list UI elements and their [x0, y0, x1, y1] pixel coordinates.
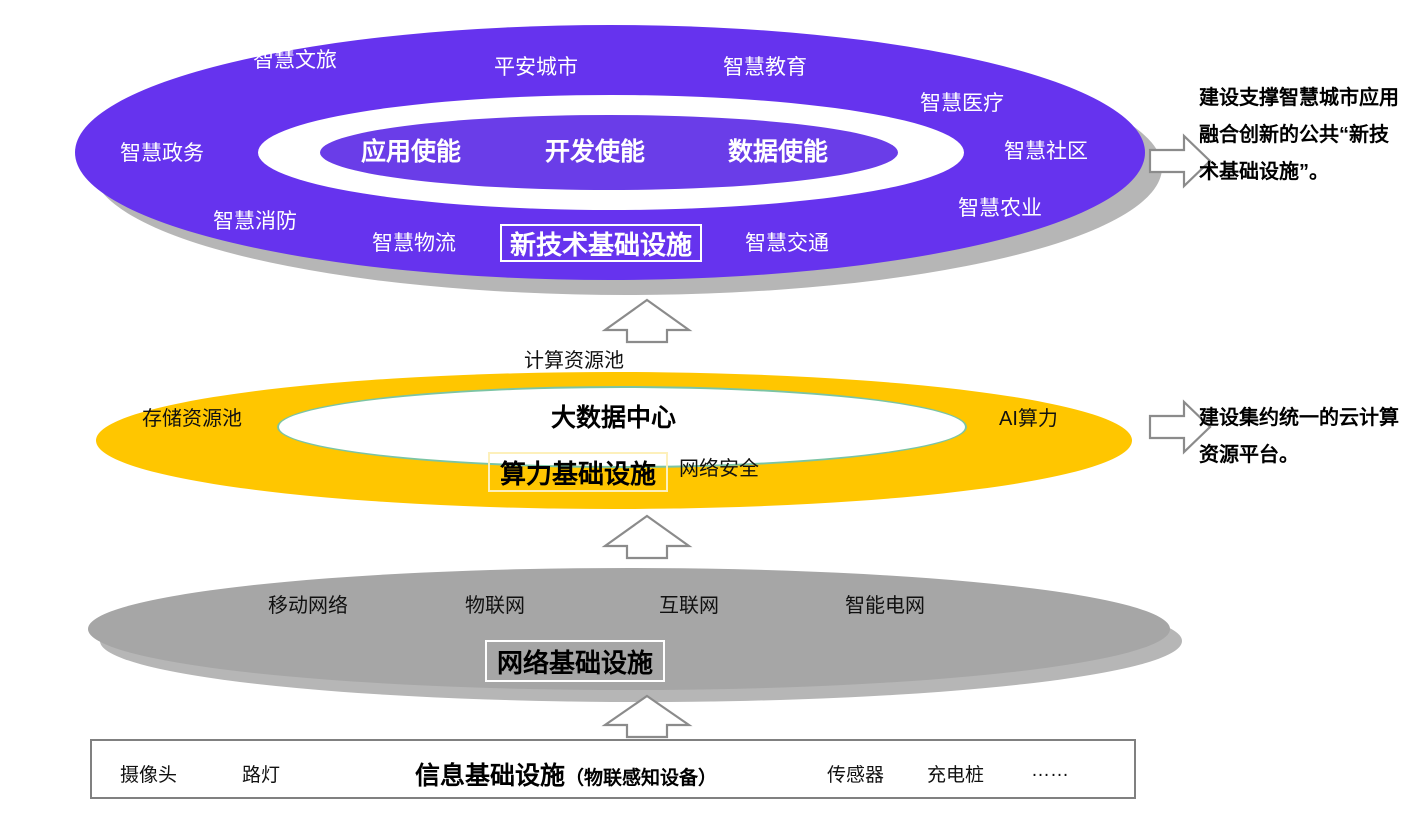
scenario-label-wenlv: 智慧文旅: [253, 50, 337, 71]
sensing-label-camera: 摄像头: [120, 760, 177, 787]
application-layer-title-box: 新技术基础设施: [500, 224, 702, 262]
scenario-label-nongye: 智慧农业: [958, 198, 1042, 219]
resource-label-storage-pool: 存储资源池: [142, 409, 242, 429]
scenario-label-pingan: 平安城市: [494, 57, 578, 78]
arrow-up-outline-icon-compute: [597, 512, 697, 562]
compute-center-label: 大数据中心: [551, 406, 676, 431]
arrow-up-outline-icon-application: [597, 296, 697, 346]
sensing-layer-title-main: 信息基础设施: [415, 762, 565, 790]
network-label-mobile: 移动网络: [268, 596, 348, 616]
network-label-iot: 物联网: [465, 596, 525, 616]
network-layer-title-box: 网络基础设施: [485, 640, 665, 682]
scenario-label-xiaofang: 智慧消防: [213, 211, 297, 232]
network-label-internet: 互联网: [659, 596, 719, 616]
annotation-compute: 建设集约统一的云计算资源平台。: [1199, 400, 1404, 474]
resource-label-compute-pool: 计算资源池: [524, 351, 624, 371]
scenario-label-shequ: 智慧社区: [1004, 141, 1088, 162]
capability-label-dev-enable: 开发使能: [545, 140, 645, 165]
resource-label-ai-compute: AI算力: [999, 409, 1058, 429]
diagram-canvas: 智慧文旅 平安城市 智慧教育 智慧医疗 智慧社区 智慧政务 智慧消防 智慧物流 …: [0, 0, 1412, 815]
sensing-layer-title-suffix: （物联感知设备）: [565, 768, 717, 789]
capability-label-data-enable: 数据使能: [728, 140, 828, 165]
arrow-up-outline-icon-network: [597, 693, 697, 741]
annotation-application: 建设支撑智慧城市应用融合创新的公共“新技术基础设施”。: [1199, 80, 1404, 191]
scenario-label-yiliao: 智慧医疗: [920, 93, 1004, 114]
sensing-layer-title: 信息基础设施（物联感知设备）: [415, 756, 717, 792]
scenario-label-zhengwu: 智慧政务: [120, 143, 204, 164]
sensing-label-sensor: 传感器: [827, 760, 884, 787]
resource-label-network-security: 网络安全: [679, 459, 759, 479]
sensing-label-charging-pile: 充电桩: [927, 760, 984, 787]
capability-label-app-enable: 应用使能: [361, 140, 461, 165]
scenario-label-jiaotong: 智慧交通: [745, 233, 829, 254]
network-label-smartgrid: 智能电网: [845, 596, 925, 616]
sensing-label-streetlight: 路灯: [242, 760, 280, 787]
sensing-label-ellipsis: ……: [1031, 760, 1069, 782]
compute-layer-title-box: 算力基础设施: [488, 452, 668, 492]
scenario-label-wuliu: 智慧物流: [372, 233, 456, 254]
scenario-label-jiaoyu: 智慧教育: [723, 57, 807, 78]
